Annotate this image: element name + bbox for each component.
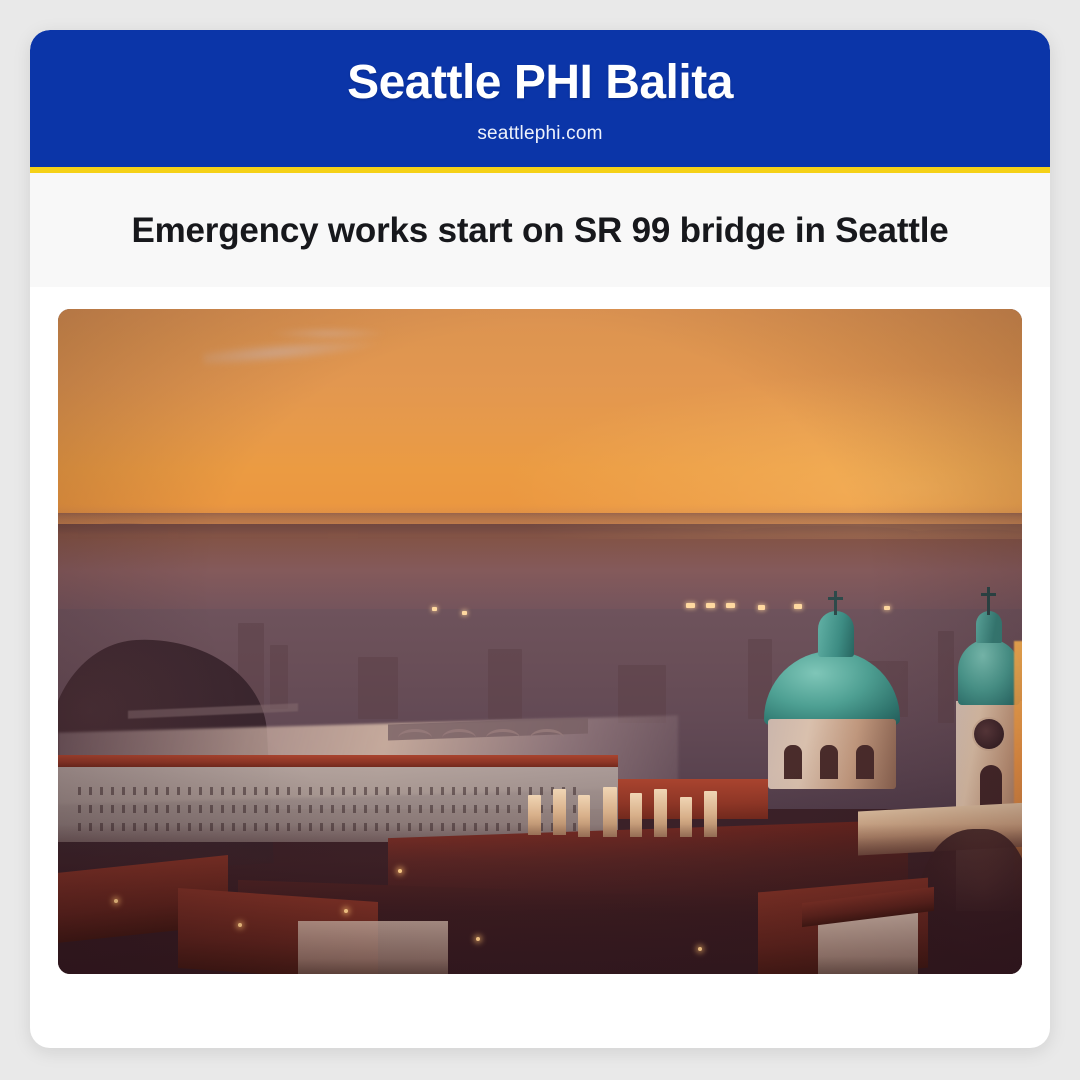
- site-url: seattlephi.com: [477, 123, 602, 145]
- site-title: Seattle PHI Balita: [347, 58, 733, 108]
- bell-tower-lantern: [976, 611, 1002, 643]
- site-header: Seattle PHI Balita seattlephi.com: [30, 30, 1050, 167]
- distant-ridge: [58, 513, 1022, 539]
- news-card: Seattle PHI Balita seattlephi.com Emerge…: [30, 30, 1050, 1048]
- article-headline: Emergency works start on SR 99 bridge in…: [86, 205, 994, 257]
- dome-cross: [828, 597, 843, 600]
- article-photo-wrapper: [30, 287, 1050, 974]
- headline-band: Emergency works start on SR 99 bridge in…: [30, 173, 1050, 287]
- article-photo: [58, 309, 1022, 974]
- dome-lantern: [818, 611, 854, 657]
- bell-tower-finial: [987, 587, 990, 615]
- cloud-streak-small: [268, 327, 388, 340]
- bell-tower-cross: [981, 593, 996, 596]
- dome-finial: [834, 591, 837, 615]
- bell-tower-cupola: [958, 639, 1020, 705]
- clock-face: [974, 719, 1004, 749]
- sky-layer: [58, 309, 1022, 524]
